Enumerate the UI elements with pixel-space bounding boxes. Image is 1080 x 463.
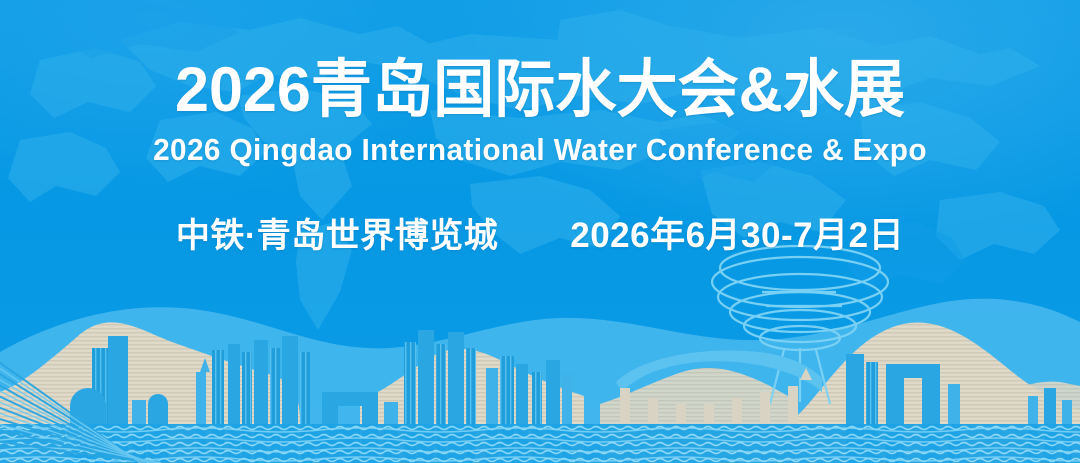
city-skyline-graphic (0, 0, 1080, 463)
water-surface (0, 424, 1080, 463)
event-banner: 2026青岛国际水大会&水展 2026 Qingdao Internationa… (0, 0, 1080, 463)
